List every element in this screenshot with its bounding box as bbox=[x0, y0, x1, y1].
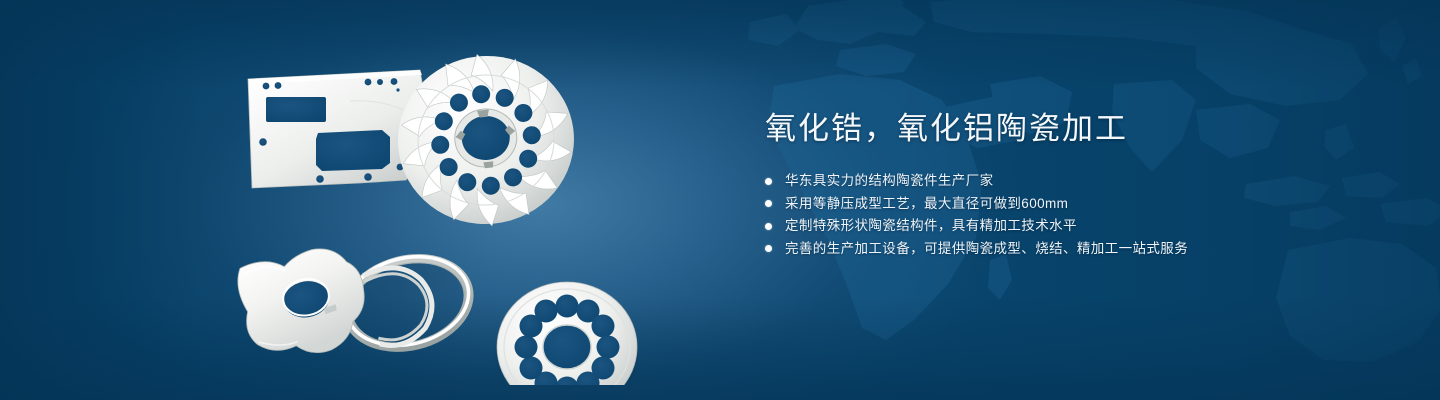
ceramic-perforated-disc-part bbox=[495, 282, 639, 385]
list-item: 完善的生产加工设备，可提供陶瓷成型、烧结、精加工一站式服务 bbox=[765, 238, 1385, 261]
promo-banner: 氧化锆，氧化铝陶瓷加工 华东具实力的结构陶瓷件生产厂家 采用等静压成型工艺，最大… bbox=[0, 0, 1440, 400]
feature-text: 完善的生产加工设备，可提供陶瓷成型、烧结、精加工一站式服务 bbox=[785, 238, 1188, 261]
bullet-dot-icon bbox=[765, 223, 772, 230]
bullet-dot-icon bbox=[765, 178, 772, 185]
banner-copy: 氧化锆，氧化铝陶瓷加工 华东具实力的结构陶瓷件生产厂家 采用等静压成型工艺，最大… bbox=[765, 108, 1385, 260]
feature-text: 采用等静压成型工艺，最大直径可做到600mm bbox=[785, 193, 1068, 216]
product-photo-group bbox=[230, 45, 700, 385]
list-item: 定制特殊形状陶瓷结构件，具有精加工技术水平 bbox=[765, 215, 1385, 238]
ceramic-cross-part bbox=[234, 242, 373, 365]
bullet-dot-icon bbox=[765, 245, 772, 252]
list-item: 采用等静压成型工艺，最大直径可做到600mm bbox=[765, 193, 1385, 216]
page-title: 氧化锆，氧化铝陶瓷加工 bbox=[765, 108, 1385, 150]
list-item: 华东具实力的结构陶瓷件生产厂家 bbox=[765, 170, 1385, 193]
feature-text: 定制特殊形状陶瓷结构件，具有精加工技术水平 bbox=[785, 215, 1077, 238]
feature-list: 华东具实力的结构陶瓷件生产厂家 采用等静压成型工艺，最大直径可做到600mm 定… bbox=[765, 170, 1385, 260]
bullet-dot-icon bbox=[765, 200, 772, 207]
feature-text: 华东具实力的结构陶瓷件生产厂家 bbox=[785, 170, 994, 193]
